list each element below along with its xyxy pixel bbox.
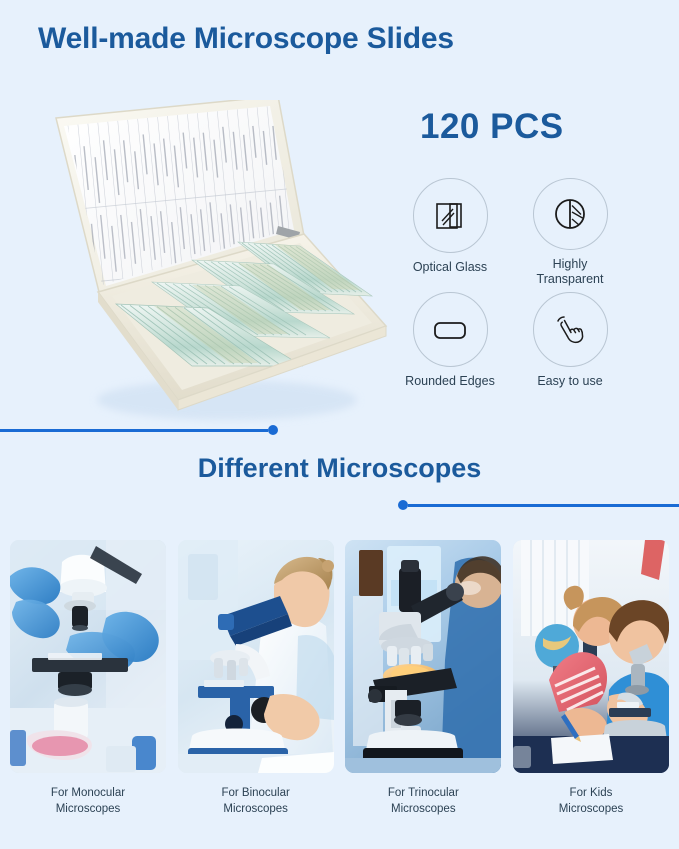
feature-easy-to-use: Easy to use [524, 292, 616, 402]
divider-line [408, 504, 679, 507]
rounded-rectangle-icon [413, 292, 488, 367]
feature-highly-transparent: HighlyTransparent [524, 178, 616, 288]
microscope-type-binocular: For BinocularMicroscopes [178, 540, 334, 817]
photo-caption: For KidsMicroscopes [559, 786, 624, 817]
microscope-type-monocular: For MonocularMicroscopes [10, 540, 166, 817]
trinocular-microscope-photo [345, 540, 501, 773]
feature-optical-glass: Optical Glass [404, 178, 496, 288]
microscope-type-kids: For KidsMicroscopes [513, 540, 669, 817]
monocular-microscope-photo [10, 540, 166, 773]
section-heading: Different Microscopes [0, 453, 679, 484]
feature-rounded-edges: Rounded Edges [404, 292, 496, 402]
divider-line [0, 429, 268, 432]
pcs-count-label: 120 PCS [420, 107, 564, 147]
page-title: Well-made Microscope Slides [38, 22, 454, 56]
photo-caption: For BinocularMicroscopes [221, 786, 289, 817]
feature-label: Optical Glass [413, 260, 487, 276]
glass-plates-icon [413, 178, 488, 253]
photo-caption: For TrinocularMicroscopes [388, 786, 459, 817]
kids-microscope-photo [513, 540, 669, 773]
tapping-hand-icon [533, 292, 608, 367]
divider-dot [398, 500, 408, 510]
photo-caption: For MonocularMicroscopes [51, 786, 125, 817]
divider-top [0, 425, 278, 435]
feature-label: Rounded Edges [405, 374, 495, 390]
half-shaded-circle-icon [533, 178, 608, 250]
divider-bottom [398, 500, 679, 510]
feature-label: Easy to use [537, 374, 602, 390]
binocular-microscope-photo [178, 540, 334, 773]
feature-grid: Optical Glass HighlyTransparent Rounded … [404, 178, 616, 402]
divider-dot [268, 425, 278, 435]
microscope-photo-row: For MonocularMicroscopes [10, 540, 669, 817]
microscope-type-trinocular: For TrinocularMicroscopes [345, 540, 501, 817]
feature-label: HighlyTransparent [537, 257, 604, 288]
microscope-slide-box-photo [42, 100, 392, 430]
